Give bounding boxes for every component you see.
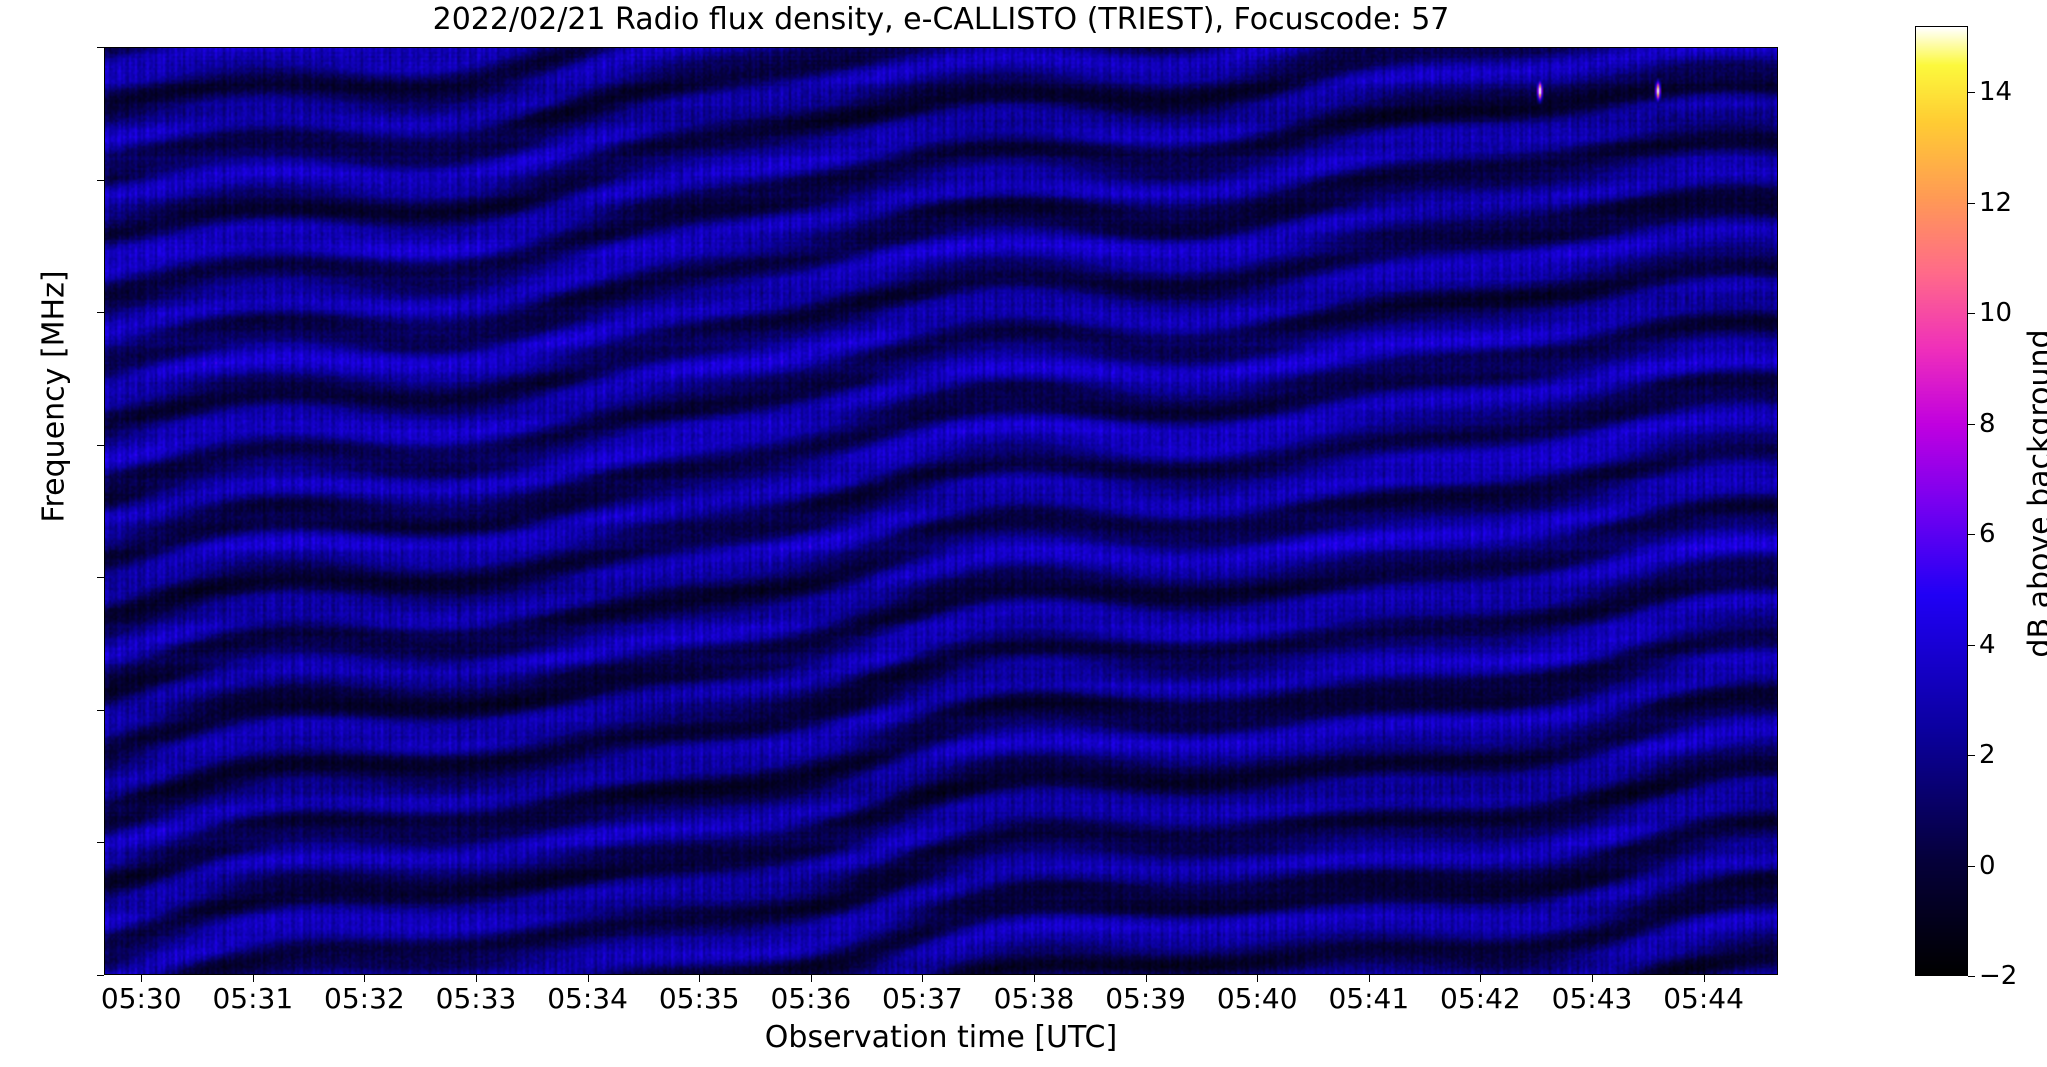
x-tick-label: 05:37 — [882, 982, 963, 1015]
x-tick-mark — [1480, 975, 1481, 982]
x-tick-label: 05:30 — [101, 982, 182, 1015]
colorbar-tick-label: 8 — [1979, 409, 1996, 439]
spectrogram-figure: 2022/02/21 Radio flux density, e-CALLIST… — [0, 0, 2047, 1067]
x-tick-mark — [588, 975, 589, 982]
y-tick-mark — [97, 445, 104, 446]
x-tick-mark — [922, 975, 923, 982]
page-title: 2022/02/21 Radio flux density, e-CALLIST… — [104, 2, 1778, 37]
y-tick-mark — [97, 577, 104, 578]
y-tick-mark — [97, 47, 104, 48]
colorbar-tick-label: 4 — [1979, 630, 1996, 660]
x-tick-label: 05:41 — [1328, 982, 1409, 1015]
x-tick-label: 05:39 — [1105, 982, 1186, 1015]
x-tick-label: 05:44 — [1663, 982, 1744, 1015]
x-tick-mark — [811, 975, 812, 982]
colorbar-tick-mark — [1968, 203, 1975, 204]
colorbar-tick-label: 10 — [1979, 298, 2012, 328]
colorbar-tick-mark — [1968, 313, 1975, 314]
x-tick-mark — [253, 975, 254, 982]
x-tick-mark — [476, 975, 477, 982]
colorbar — [1915, 26, 1968, 976]
y-tick-mark — [97, 842, 104, 843]
x-tick-label: 05:32 — [324, 982, 405, 1015]
colorbar-tick-mark — [1968, 645, 1975, 646]
x-tick-mark — [364, 975, 365, 982]
x-tick-mark — [1369, 975, 1370, 982]
x-tick-label: 05:33 — [436, 982, 517, 1015]
colorbar-tick-mark — [1968, 976, 1975, 977]
x-tick-mark — [1704, 975, 1705, 982]
colorbar-tick-label: 14 — [1979, 77, 2012, 107]
colorbar-tick-label: 0 — [1979, 851, 1996, 881]
x-tick-mark — [141, 975, 142, 982]
colorbar-tick-label: 6 — [1979, 519, 1996, 549]
colorbar-tick-label: 2 — [1979, 740, 1996, 770]
y-tick-mark — [97, 312, 104, 313]
x-tick-label: 05:42 — [1440, 982, 1521, 1015]
colorbar-tick-label: 12 — [1979, 188, 2012, 218]
colorbar-gradient — [1916, 27, 1967, 975]
x-tick-label: 05:34 — [547, 982, 628, 1015]
colorbar-label: dB above background — [2023, 244, 2047, 744]
colorbar-tick-mark — [1968, 755, 1975, 756]
spectrogram-image — [105, 48, 1777, 974]
x-tick-label: 05:35 — [659, 982, 740, 1015]
y-tick-mark — [97, 180, 104, 181]
colorbar-tick-mark — [1968, 92, 1975, 93]
y-tick-mark — [97, 975, 104, 976]
x-tick-mark — [1034, 975, 1035, 982]
x-tick-label: 05:31 — [212, 982, 293, 1015]
x-tick-label: 05:43 — [1552, 982, 1633, 1015]
x-tick-mark — [1257, 975, 1258, 982]
colorbar-tick-label: −2 — [1979, 961, 2017, 991]
y-axis-label: Frequency [MHz] — [37, 147, 72, 647]
x-tick-mark — [1592, 975, 1593, 982]
x-tick-label: 05:36 — [770, 982, 851, 1015]
y-tick-mark — [97, 710, 104, 711]
spectrogram-axes — [104, 47, 1778, 975]
x-tick-label: 05:38 — [994, 982, 1075, 1015]
x-axis-label: Observation time [UTC] — [104, 1020, 1778, 1055]
colorbar-tick-mark — [1968, 424, 1975, 425]
x-tick-mark — [699, 975, 700, 982]
x-tick-mark — [1146, 975, 1147, 982]
colorbar-tick-mark — [1968, 866, 1975, 867]
x-tick-label: 05:40 — [1217, 982, 1298, 1015]
colorbar-tick-mark — [1968, 534, 1975, 535]
